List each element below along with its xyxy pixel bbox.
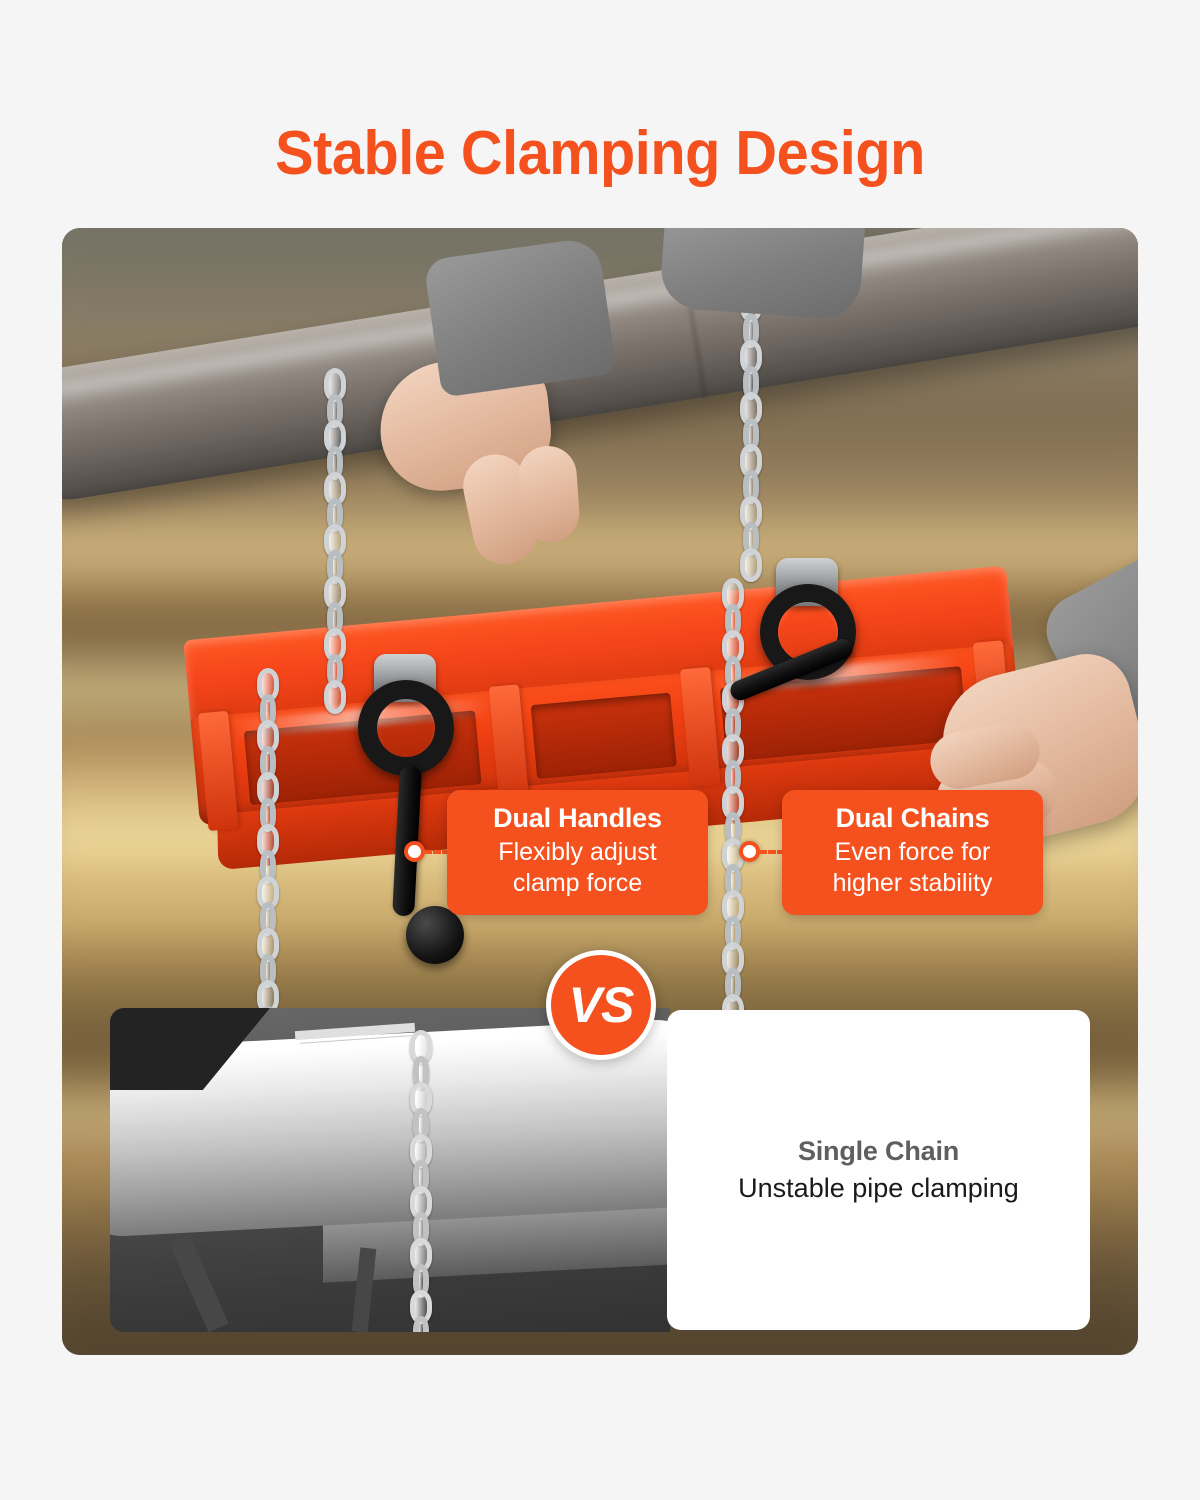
page-title: Stable Clamping Design	[42, 118, 1158, 189]
leader-dot-dual-handles	[404, 841, 425, 862]
callout-subtitle-line-2: higher stability	[798, 868, 1027, 899]
callout-title: Dual Chains	[798, 803, 1027, 835]
clamp-slot	[531, 693, 677, 779]
callout-subtitle-line-1: Even force for	[798, 837, 1027, 868]
callout-dual-chains: Dual Chains Even force for higher stabil…	[782, 790, 1043, 915]
sleeve	[659, 228, 865, 321]
marketing-page: Stable Clamping Design	[0, 0, 1200, 1500]
callout-dual-handles: Dual Handles Flexibly adjust clamp force	[447, 790, 708, 915]
comparison-panel-subtitle: Unstable pipe clamping	[738, 1173, 1019, 1204]
callout-subtitle-line-1: Flexibly adjust	[463, 837, 692, 868]
handle-knob	[406, 906, 464, 964]
finger	[517, 444, 582, 544]
callout-subtitle-line-2: clamp force	[463, 868, 692, 899]
vs-badge: VS	[546, 950, 656, 1060]
comparison-panel-title: Single Chain	[798, 1136, 959, 1167]
handle-ring	[358, 680, 454, 776]
sleeve	[423, 236, 616, 397]
leader-dot-dual-chains	[739, 841, 760, 862]
callout-title: Dual Handles	[463, 803, 692, 835]
background-streak	[62, 528, 1138, 574]
comparison-panel: Single Chain Unstable pipe clamping	[667, 1010, 1090, 1330]
